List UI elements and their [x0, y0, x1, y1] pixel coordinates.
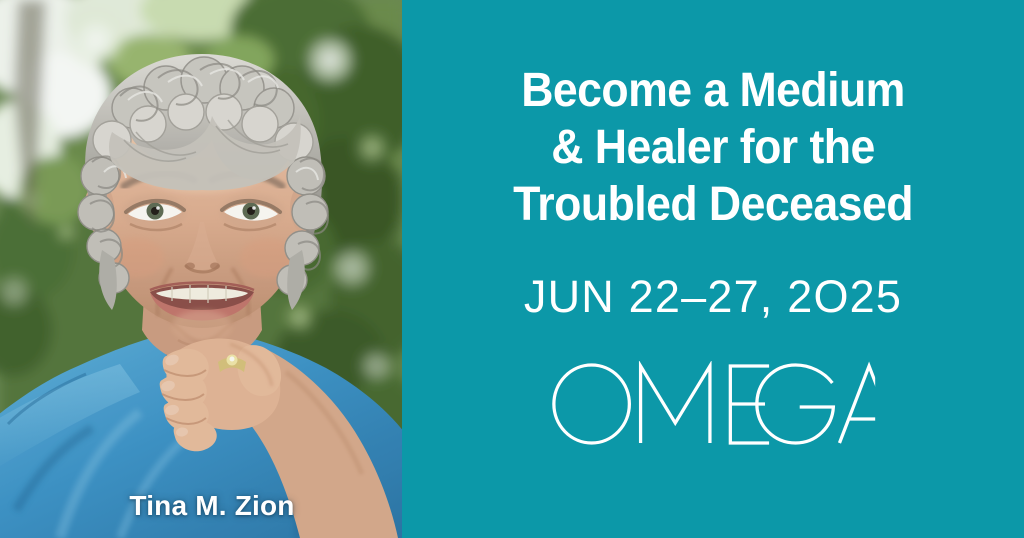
workshop-title-line-2: & Healer for the [424, 119, 1002, 176]
workshop-title-line-1: Become a Medium [424, 62, 1002, 119]
omega-wordmark-icon [551, 361, 875, 447]
instructor-photo: Tina M. Zion [0, 0, 402, 538]
instructor-photo-illustration [0, 0, 402, 538]
omega-logo [396, 361, 1024, 447]
event-date: JUN 22–27, 2O25 [402, 271, 1024, 323]
event-promo-banner: Tina M. Zion Become a Medium & Healer fo… [0, 0, 1024, 538]
promo-panel: Become a Medium & Healer for the Trouble… [402, 0, 1024, 538]
workshop-title: Become a Medium & Healer for the Trouble… [424, 62, 1002, 233]
instructor-name-caption: Tina M. Zion [0, 490, 402, 522]
workshop-title-line-3: Troubled Deceased [424, 176, 1002, 233]
